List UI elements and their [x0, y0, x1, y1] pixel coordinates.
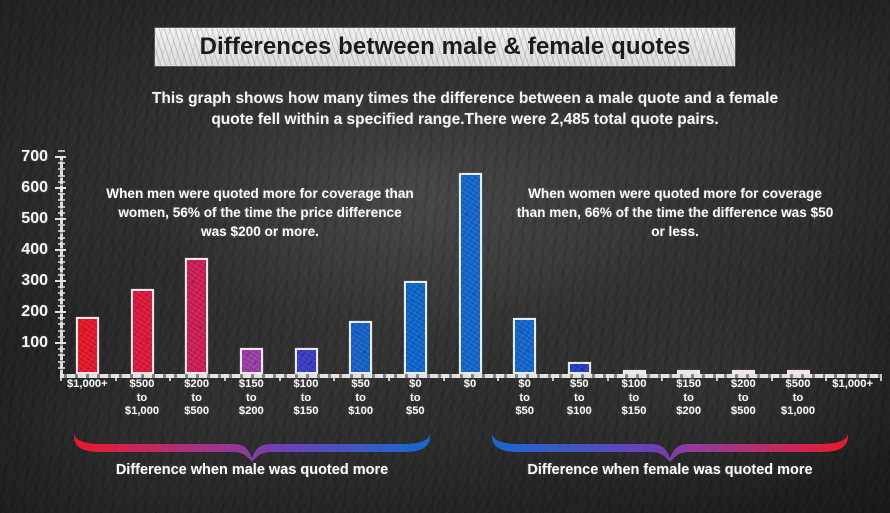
bar	[787, 370, 810, 374]
x-axis-label-line: $50	[382, 405, 449, 419]
bar	[677, 370, 700, 374]
y-tick-major	[55, 156, 66, 158]
x-axis-label: $1,000+	[819, 378, 886, 392]
bar	[623, 370, 646, 374]
x-axis-label-line: $1,000+	[819, 378, 886, 392]
bar-chalk-texture	[515, 320, 534, 372]
y-tick-minor	[58, 162, 65, 164]
y-tick-label: 100	[2, 334, 48, 352]
y-tick-label: 300	[2, 272, 48, 290]
y-tick-minor	[58, 243, 65, 245]
y-tick-major	[55, 311, 66, 313]
bar-chalk-texture	[297, 350, 316, 372]
page-title: Differences between male & female quotes	[200, 33, 691, 61]
bar-chalk-texture	[406, 283, 425, 372]
y-tick-major	[55, 280, 66, 282]
chart-title-banner: Differences between male & female quotes	[155, 28, 735, 66]
bar	[568, 362, 591, 374]
y-tick-major	[55, 187, 66, 189]
bar	[185, 258, 208, 374]
bar-chalk-texture	[242, 350, 261, 372]
y-tick-minor	[58, 261, 65, 263]
y-tick-minor	[58, 255, 65, 257]
bar-chalk-texture	[461, 175, 480, 373]
bar-chalk-texture	[78, 319, 97, 372]
plot-area: 100200300400500600700	[0, 145, 890, 380]
y-tick-minor	[58, 224, 65, 226]
legend-female: Difference when female was quoted more	[490, 462, 850, 478]
bar	[459, 173, 482, 375]
bar	[131, 289, 154, 374]
y-tick-minor	[58, 323, 65, 325]
y-tick-label: 600	[2, 179, 48, 197]
y-tick-minor	[58, 237, 65, 239]
y-tick-minor	[58, 305, 65, 307]
x-axis-label-line: to	[382, 392, 449, 406]
y-tick-minor	[58, 336, 65, 338]
x-axis-label-line: $1,000	[765, 405, 832, 419]
y-tick-minor	[58, 367, 65, 369]
bar-series	[60, 145, 880, 375]
y-tick-minor	[58, 181, 65, 183]
y-tick-minor	[58, 206, 65, 208]
bar	[240, 348, 263, 374]
y-tick-major	[55, 342, 66, 344]
y-tick-minor	[58, 268, 65, 270]
y-tick-minor	[58, 212, 65, 214]
y-tick-minor	[58, 361, 65, 363]
y-tick-major	[55, 218, 66, 220]
y-tick-major	[55, 249, 66, 251]
bar	[76, 317, 99, 374]
bar	[513, 318, 536, 374]
y-tick-minor	[58, 299, 65, 301]
bar	[349, 321, 372, 374]
y-tick-minor	[58, 330, 65, 332]
legend-male: Difference when male was quoted more	[72, 462, 432, 478]
brace-male	[72, 422, 432, 462]
y-tick-label: 200	[2, 303, 48, 321]
x-axis-labels: $1,000+$500to$1,000$200to$500$150to$200$…	[60, 378, 880, 420]
y-tick-minor	[58, 354, 65, 356]
brace-female	[490, 422, 850, 462]
y-tick-minor	[58, 348, 65, 350]
bar-chalk-texture	[570, 364, 589, 372]
chart-root: Differences between male & female quotes…	[0, 0, 890, 513]
y-tick-minor	[58, 199, 65, 201]
x-axis-label-line: to	[765, 392, 832, 406]
y-tick-minor	[58, 230, 65, 232]
y-tick-minor	[58, 274, 65, 276]
y-tick-minor	[58, 175, 65, 177]
y-tick-label: 700	[2, 148, 48, 166]
y-tick-minor	[58, 150, 65, 152]
bar	[732, 370, 755, 374]
bar	[404, 281, 427, 374]
y-tick-minor	[58, 317, 65, 319]
y-tick-label: 400	[2, 241, 48, 259]
bar-chalk-texture	[187, 260, 206, 372]
bar-chalk-texture	[133, 291, 152, 372]
y-tick-label: 500	[2, 210, 48, 228]
chart-subtitle: This graph shows how many times the diff…	[140, 88, 790, 130]
bar-chalk-texture	[351, 323, 370, 372]
bar	[295, 348, 318, 374]
y-tick-minor	[58, 292, 65, 294]
y-tick-minor	[58, 286, 65, 288]
y-tick-minor	[58, 193, 65, 195]
y-tick-minor	[58, 168, 65, 170]
